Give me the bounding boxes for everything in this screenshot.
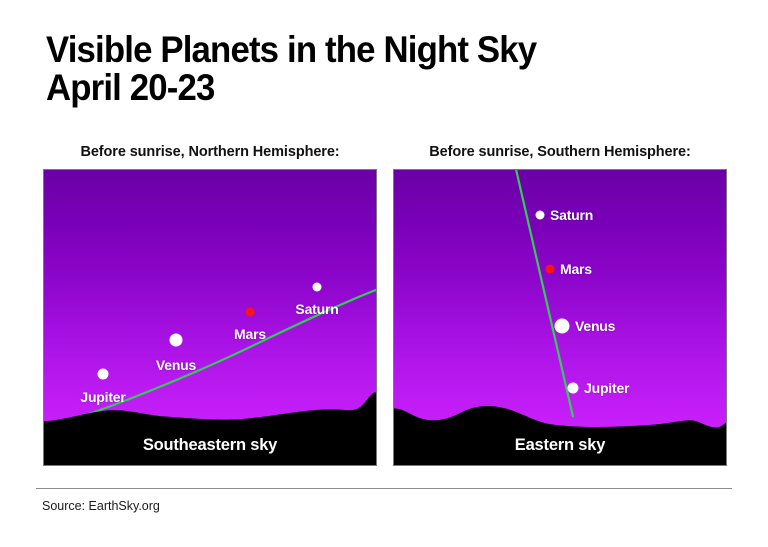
sky-view-northern: Jupiter Venus Mars Saturn Southeastern s…	[43, 169, 377, 466]
page-title: Visible Planets in the Night Sky April 2…	[46, 31, 746, 107]
planet-dot-jupiter	[98, 369, 109, 380]
planet-label-mars: Mars	[560, 261, 592, 277]
planet-dot-jupiter	[568, 383, 579, 394]
sky-view-southern: Saturn Mars Venus Jupiter Eastern sky	[393, 169, 727, 466]
planet-dot-venus	[555, 319, 570, 334]
panel-southern-hemisphere: Before sunrise, Southern Hemisphere: Sat…	[393, 141, 727, 466]
sky-graphics-northern	[44, 170, 376, 465]
planet-dot-mars	[246, 308, 255, 317]
title-line-1: Visible Planets in the Night Sky	[46, 31, 704, 69]
source-credit: Source: EarthSky.org	[42, 499, 160, 513]
planet-label-mars: Mars	[234, 326, 266, 342]
planet-label-jupiter: Jupiter	[80, 389, 125, 405]
planet-label-saturn: Saturn	[550, 207, 593, 223]
planet-label-saturn: Saturn	[295, 301, 338, 317]
planet-label-venus: Venus	[156, 357, 196, 373]
sky-panels-row: Before sunrise, Northern Hemisphere: Jup…	[43, 141, 727, 466]
planet-dot-mars	[546, 265, 555, 274]
ground-direction-label-eastern: Eastern sky	[394, 436, 726, 455]
ground-direction-label-southeastern: Southeastern sky	[44, 436, 376, 455]
planet-dot-venus	[170, 334, 183, 347]
planet-label-jupiter: Jupiter	[584, 380, 629, 396]
footer-divider	[36, 488, 732, 489]
planet-dot-saturn	[536, 211, 545, 220]
planet-label-venus: Venus	[575, 318, 615, 334]
planet-dot-saturn	[313, 283, 322, 292]
panel-caption-northern: Before sunrise, Northern Hemisphere:	[43, 141, 377, 169]
panel-caption-southern: Before sunrise, Southern Hemisphere:	[393, 141, 727, 169]
panel-northern-hemisphere: Before sunrise, Northern Hemisphere: Jup…	[43, 141, 377, 466]
title-line-2: April 20-23	[46, 69, 704, 107]
